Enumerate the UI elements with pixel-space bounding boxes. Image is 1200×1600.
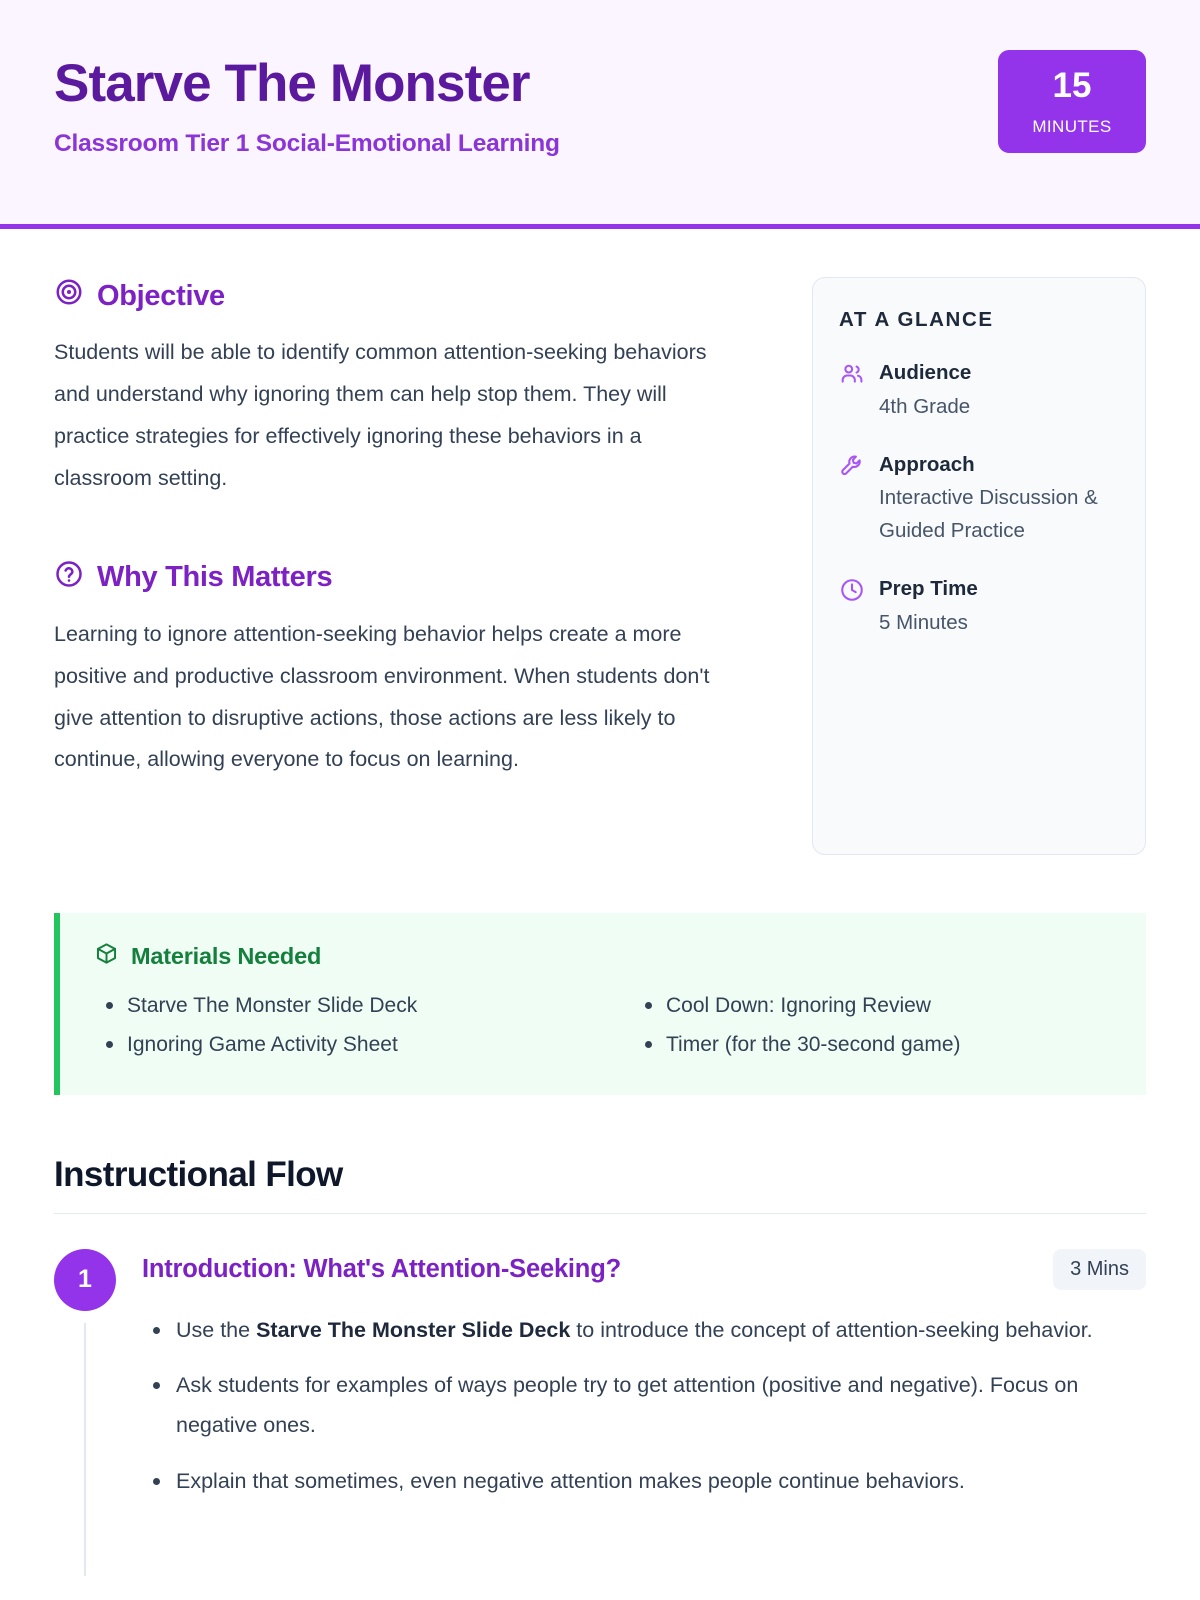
step-number-badge: 1: [54, 1249, 116, 1311]
why-text: Learning to ignore attention-seeking beh…: [54, 614, 744, 782]
page-header: Starve The Monster Classroom Tier 1 Soci…: [0, 0, 1200, 229]
top-section-grid: Objective Students will be able to ident…: [54, 277, 1146, 855]
duration-unit: MINUTES: [1008, 117, 1136, 137]
bullet-prefix: Ask students for examples of ways people…: [176, 1373, 1078, 1437]
page-title: Starve The Monster: [54, 56, 560, 112]
materials-panel: Materials Needed Starve The Monster Slid…: [54, 913, 1146, 1095]
side-column: AT A GLANCE Audience 4t: [812, 277, 1146, 855]
duration-value: 15: [1008, 68, 1136, 103]
step-bullet-list: Use the Starve The Monster Slide Deck to…: [142, 1310, 1146, 1501]
step-title: Introduction: What's Attention-Seeking?: [142, 1253, 621, 1286]
objective-heading: Objective: [97, 280, 225, 313]
materials-columns: Starve The Monster Slide Deck Ignoring G…: [94, 986, 1112, 1065]
duration-badge: 15 MINUTES: [998, 50, 1146, 153]
materials-list-right: Cool Down: Ignoring Review Timer (for th…: [633, 986, 1112, 1065]
list-item: Use the Starve The Monster Slide Deck to…: [142, 1310, 1146, 1350]
list-item: Cool Down: Ignoring Review: [633, 986, 1112, 1025]
at-a-glance-card: AT A GLANCE Audience 4t: [812, 277, 1146, 855]
page-body: Objective Students will be able to ident…: [0, 229, 1200, 1516]
flow-step-1: 1 Introduction: What's Attention-Seeking…: [54, 1249, 1146, 1516]
objective-text: Students will be able to identify common…: [54, 332, 744, 500]
step-rail: 1: [54, 1249, 116, 1516]
step-time-badge: 3 Mins: [1053, 1249, 1146, 1290]
list-item: Starve The Monster Slide Deck: [94, 986, 573, 1025]
glance-label: Prep Time: [879, 574, 978, 605]
why-heading-row: Why This Matters: [54, 559, 774, 597]
wrench-icon: [839, 453, 865, 484]
target-icon: [54, 277, 84, 315]
instructional-flow-heading: Instructional Flow: [54, 1155, 1146, 1195]
glance-text-audience: Audience 4th Grade: [879, 358, 971, 424]
objective-heading-row: Objective: [54, 277, 774, 315]
list-item: Ask students for examples of ways people…: [142, 1365, 1146, 1445]
users-icon: [839, 361, 865, 392]
lesson-plan-page: Starve The Monster Classroom Tier 1 Soci…: [0, 0, 1200, 1600]
glance-value: Interactive Discussion & Guided Practice: [879, 482, 1119, 548]
why-heading: Why This Matters: [97, 561, 332, 594]
step-content: Introduction: What's Attention-Seeking? …: [142, 1249, 1146, 1516]
glance-label: Approach: [879, 450, 1119, 481]
list-item: Ignoring Game Activity Sheet: [94, 1025, 573, 1064]
section-divider: [54, 1213, 1146, 1214]
list-item: Timer (for the 30-second game): [633, 1025, 1112, 1064]
materials-heading-row: Materials Needed: [94, 941, 1112, 972]
package-icon: [94, 941, 119, 972]
page-subtitle: Classroom Tier 1 Social-Emotional Learni…: [54, 130, 560, 158]
step-header-row: Introduction: What's Attention-Seeking? …: [142, 1253, 1146, 1290]
glance-value: 4th Grade: [879, 391, 971, 424]
materials-heading: Materials Needed: [131, 943, 321, 970]
clock-icon: [839, 577, 865, 608]
bullet-prefix: Explain that sometimes, even negative at…: [176, 1469, 965, 1493]
glance-text-prep-time: Prep Time 5 Minutes: [879, 574, 978, 640]
glance-item-approach: Approach Interactive Discussion & Guided…: [839, 450, 1119, 548]
glance-label: Audience: [879, 358, 971, 389]
glance-item-audience: Audience 4th Grade: [839, 358, 1119, 424]
question-circle-icon: [54, 559, 84, 597]
materials-list-left: Starve The Monster Slide Deck Ignoring G…: [94, 986, 573, 1065]
bullet-prefix: Use the: [176, 1318, 256, 1342]
glance-item-prep-time: Prep Time 5 Minutes: [839, 574, 1119, 640]
glance-text-approach: Approach Interactive Discussion & Guided…: [879, 450, 1119, 548]
header-title-group: Starve The Monster Classroom Tier 1 Soci…: [54, 46, 560, 158]
main-column: Objective Students will be able to ident…: [54, 277, 774, 781]
glance-value: 5 Minutes: [879, 607, 978, 640]
list-item: Explain that sometimes, even negative at…: [142, 1461, 1146, 1501]
step-connector-line: [84, 1323, 86, 1576]
at-a-glance-title: AT A GLANCE: [839, 308, 1119, 332]
bullet-bold: Starve The Monster Slide Deck: [256, 1318, 570, 1342]
bullet-suffix: to introduce the concept of attention-se…: [570, 1318, 1092, 1342]
